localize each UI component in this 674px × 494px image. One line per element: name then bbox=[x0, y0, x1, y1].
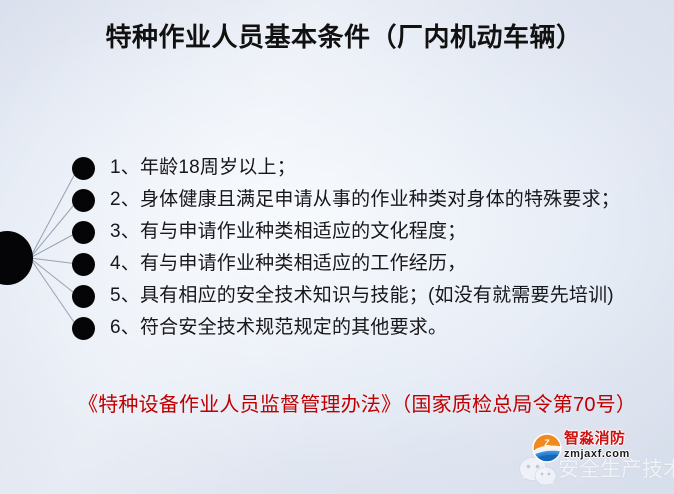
list-item-label: 4、有与申请作业种类相适应的工作经历， bbox=[110, 248, 466, 280]
slide-canvas: 特种作业人员基本条件（厂内机动车辆） 1、年龄18周岁以上； 2、身体健康且满足… bbox=[0, 0, 674, 494]
list-item-label: 3、有与申请作业种类相适应的文化程度； bbox=[110, 216, 466, 248]
brand-name: 智淼消防 bbox=[564, 430, 674, 447]
bullet-dot-icon bbox=[72, 221, 95, 244]
bullet-dot-icon bbox=[72, 253, 95, 276]
regulation-reference: 《特种设备作业人员监督管理办法》（国家质检总局令第70号） bbox=[78, 388, 636, 417]
page-title: 特种作业人员基本条件（厂内机动车辆） bbox=[0, 17, 674, 54]
list-item: 2、身体健康且满足申请从事的作业种类对身体的特殊要求； bbox=[0, 184, 674, 216]
list-item: 5、具有相应的安全技术知识与技能；(如没有就需要先培训) bbox=[0, 280, 674, 312]
svg-text:Z: Z bbox=[544, 438, 550, 448]
list-item-label: 5、具有相应的安全技术知识与技能；(如没有就需要先培训) bbox=[110, 280, 614, 312]
zmjaxf-logo-icon: Z bbox=[532, 433, 562, 463]
brand-logo-block: Z 智淼消防 zmjaxf.com bbox=[532, 430, 674, 466]
list-item-label: 1、年龄18周岁以上； bbox=[110, 152, 296, 184]
bullet-dot-icon bbox=[72, 157, 95, 180]
bullet-dot-icon bbox=[72, 285, 95, 308]
brand-text-group: 智淼消防 zmjaxf.com bbox=[564, 430, 674, 466]
bullet-dot-icon bbox=[72, 189, 95, 212]
list-item-label: 2、身体健康且满足申请从事的作业种类对身体的特殊要求； bbox=[110, 184, 620, 216]
requirements-list: 1、年龄18周岁以上； 2、身体健康且满足申请从事的作业种类对身体的特殊要求； … bbox=[0, 152, 674, 344]
list-item-label: 6、符合安全技术规范规定的其他要求。 bbox=[110, 312, 447, 344]
list-item: 6、符合安全技术规范规定的其他要求。 bbox=[0, 312, 674, 344]
list-item: 1、年龄18周岁以上； bbox=[0, 152, 674, 184]
bullet-dot-icon bbox=[72, 317, 95, 340]
brand-url: zmjaxf.com bbox=[564, 447, 674, 461]
list-item: 4、有与申请作业种类相适应的工作经历， bbox=[0, 248, 674, 280]
list-item: 3、有与申请作业种类相适应的文化程度； bbox=[0, 216, 674, 248]
